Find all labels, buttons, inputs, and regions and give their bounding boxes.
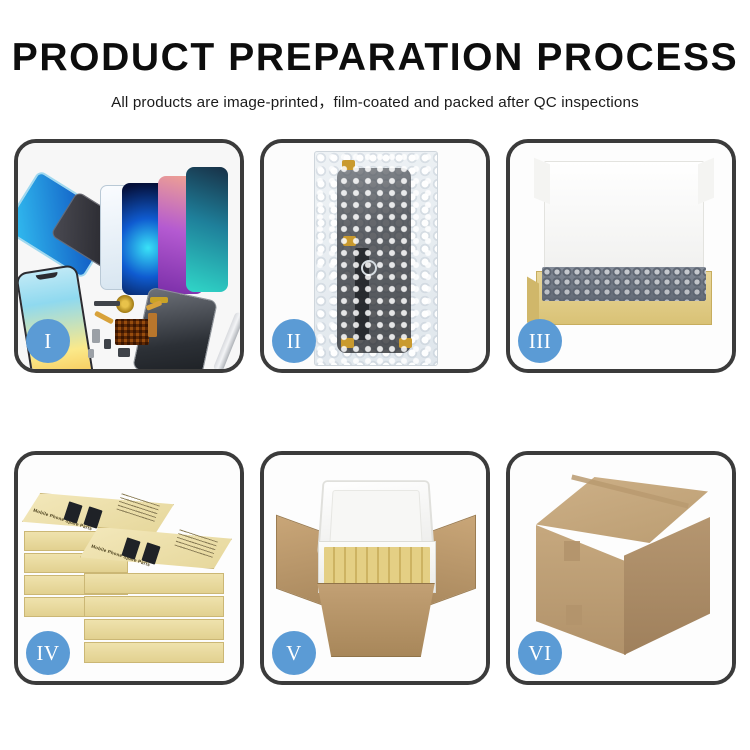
flex-cable bbox=[94, 311, 114, 325]
process-step-2[interactable]: II bbox=[260, 139, 490, 373]
step-badge-3: III bbox=[518, 319, 562, 363]
wrapped-connector bbox=[399, 338, 412, 348]
process-step-grid: I II bbox=[14, 139, 736, 685]
process-step-3[interactable]: III bbox=[506, 139, 736, 373]
bubble-wrapped-screen-image: II bbox=[264, 143, 486, 369]
step-badge-2: II bbox=[272, 319, 316, 363]
phone-notch bbox=[36, 272, 59, 280]
wrapped-connector bbox=[341, 338, 354, 348]
step-badge-5: V bbox=[272, 631, 316, 675]
small-part bbox=[88, 349, 94, 358]
product-preparation-infographic: PRODUCT PREPARATION PROCESS All products… bbox=[0, 0, 750, 750]
wrapped-connector bbox=[342, 160, 355, 170]
small-part bbox=[92, 329, 100, 343]
box-lid bbox=[544, 161, 704, 279]
repair-tweezers bbox=[213, 311, 240, 369]
carton-flap-left bbox=[276, 515, 322, 606]
process-step-5[interactable]: V bbox=[260, 451, 490, 685]
small-part bbox=[104, 339, 111, 349]
step-badge-6: VI bbox=[518, 631, 562, 675]
carton-flap-right bbox=[430, 515, 476, 606]
phone-parts-collage-image: I bbox=[18, 143, 240, 369]
header: PRODUCT PREPARATION PROCESS All products… bbox=[0, 0, 750, 112]
packed-retail-boxes bbox=[324, 547, 430, 587]
small-part bbox=[148, 313, 157, 337]
retail-box bbox=[84, 642, 224, 663]
carton-with-foam-box-image: V bbox=[264, 455, 486, 681]
carton-tape-tab bbox=[566, 605, 582, 625]
retail-box bbox=[84, 596, 224, 617]
bubble-wrap-bag bbox=[314, 151, 438, 366]
carton-tape-tab bbox=[564, 541, 580, 561]
sealed-shipping-carton-image: VI bbox=[510, 455, 732, 681]
phone-display-teal bbox=[186, 167, 228, 292]
small-part bbox=[94, 301, 120, 306]
process-step-4[interactable]: Mobile Phone Spare Parts Mobile Phone Sp… bbox=[14, 451, 244, 685]
process-step-1[interactable]: I bbox=[14, 139, 244, 373]
shipping-carton-open bbox=[306, 583, 446, 657]
retail-box bbox=[84, 619, 224, 640]
wrapped-phone-screen bbox=[337, 168, 411, 353]
step-badge-1: I bbox=[26, 319, 70, 363]
bubble-wrap-contents bbox=[542, 267, 706, 301]
wrapped-connector bbox=[343, 236, 356, 246]
page-title: PRODUCT PREPARATION PROCESS bbox=[0, 38, 750, 79]
wrapped-camera-ring bbox=[361, 260, 377, 276]
page-subtitle: All products are image-printed，film-coat… bbox=[0, 90, 750, 112]
process-step-6[interactable]: VI bbox=[506, 451, 736, 685]
lid-flap-right bbox=[698, 158, 714, 204]
small-part bbox=[118, 348, 130, 357]
lid-flap-left bbox=[534, 158, 550, 204]
retail-box bbox=[84, 573, 224, 594]
ic-chip-array bbox=[115, 319, 149, 345]
foam-lid-inner bbox=[329, 490, 422, 544]
step-badge-4: IV bbox=[26, 631, 70, 675]
stacked-retail-boxes-image: Mobile Phone Spare Parts Mobile Phone Sp… bbox=[18, 455, 240, 681]
open-mailer-box-image: III bbox=[510, 143, 732, 369]
